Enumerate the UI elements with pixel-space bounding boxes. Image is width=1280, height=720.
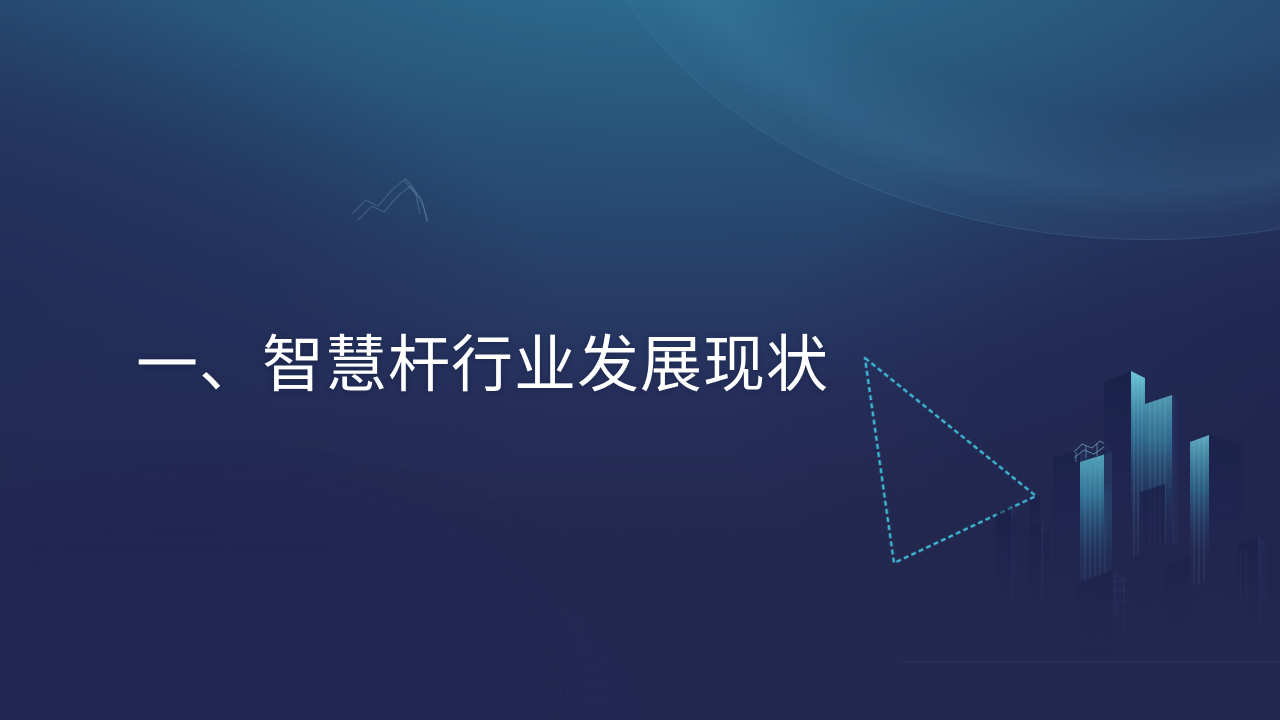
slide-title: 一、智慧杆行业发展现状 (136, 331, 829, 400)
presentation-slide: 一、智慧杆行业发展现状 (0, 0, 1280, 720)
